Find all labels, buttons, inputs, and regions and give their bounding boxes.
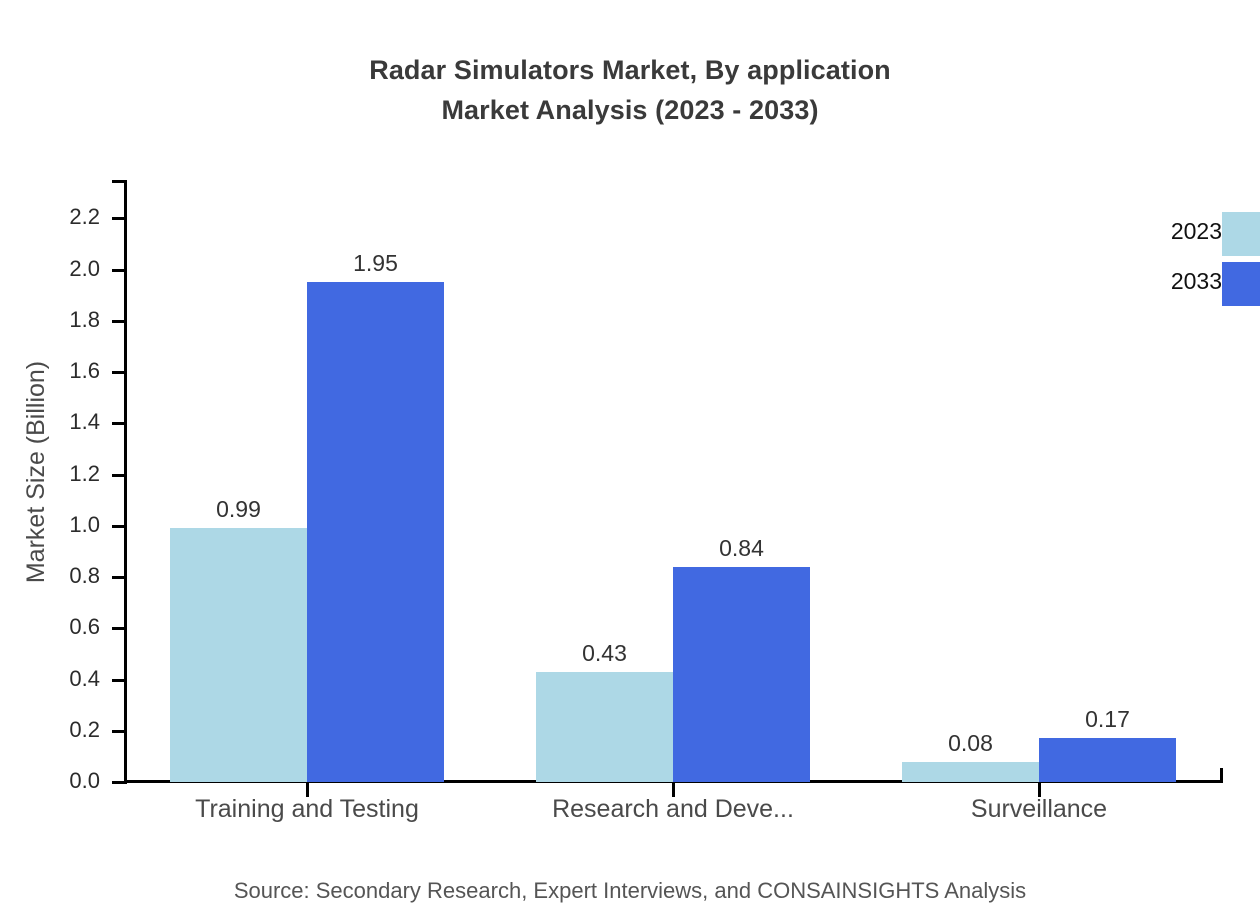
bar-value-label: 0.17: [978, 708, 1238, 731]
y-tick-label: 0.8: [0, 565, 100, 587]
x-tick-label: Surveillance: [839, 792, 1239, 826]
bar-2023-3[interactable]: [902, 762, 1039, 782]
chart-title-line1: Radar Simulators Market, By application: [369, 55, 891, 85]
legend-item-2033[interactable]: 2033: [1130, 262, 1260, 308]
bar-2023-1[interactable]: [170, 528, 307, 782]
y-tick-label: 1.6: [0, 360, 100, 382]
y-tick-label: 2.0: [0, 258, 100, 280]
chart-title-line2: Market Analysis (2023 - 2033): [0, 90, 1260, 130]
source-note: Source: Secondary Research, Expert Inter…: [0, 876, 1260, 906]
legend-swatch: [1222, 262, 1260, 306]
bar-2033-3[interactable]: [1039, 738, 1176, 782]
legend-label: 2033: [1171, 268, 1222, 294]
bar-2033-2[interactable]: [673, 567, 810, 782]
plot-area: 0.991.950.430.840.080.17: [124, 180, 1222, 782]
y-tick-label: 0.4: [0, 668, 100, 690]
y-tick-label: 0.6: [0, 616, 100, 638]
chart-figure: Radar Simulators Market, By application …: [0, 0, 1260, 920]
legend-item-2023[interactable]: 2023: [1130, 212, 1260, 258]
legend-label: 2023: [1171, 218, 1222, 244]
y-tick-label: 2.2: [0, 206, 100, 228]
bar-2033-1[interactable]: [307, 282, 444, 782]
chart-title: Radar Simulators Market, By application …: [0, 50, 1260, 130]
legend-swatch: [1222, 212, 1260, 256]
y-tick-label: 1.2: [0, 463, 100, 485]
y-tick-label: 0.0: [0, 770, 100, 792]
bar-value-label: 0.84: [612, 537, 872, 560]
chart-legend: 20232033: [1130, 212, 1260, 312]
y-tick-label: 1.4: [0, 411, 100, 433]
x-tick-label: Training and Testing: [107, 792, 507, 826]
bar-2023-2[interactable]: [536, 672, 673, 782]
y-tick-label: 1.8: [0, 309, 100, 331]
y-tick-label: 1.0: [0, 514, 100, 536]
x-tick-label: Research and Deve...: [473, 792, 873, 826]
y-tick-label: 0.2: [0, 719, 100, 741]
bar-value-label: 1.95: [246, 252, 506, 275]
